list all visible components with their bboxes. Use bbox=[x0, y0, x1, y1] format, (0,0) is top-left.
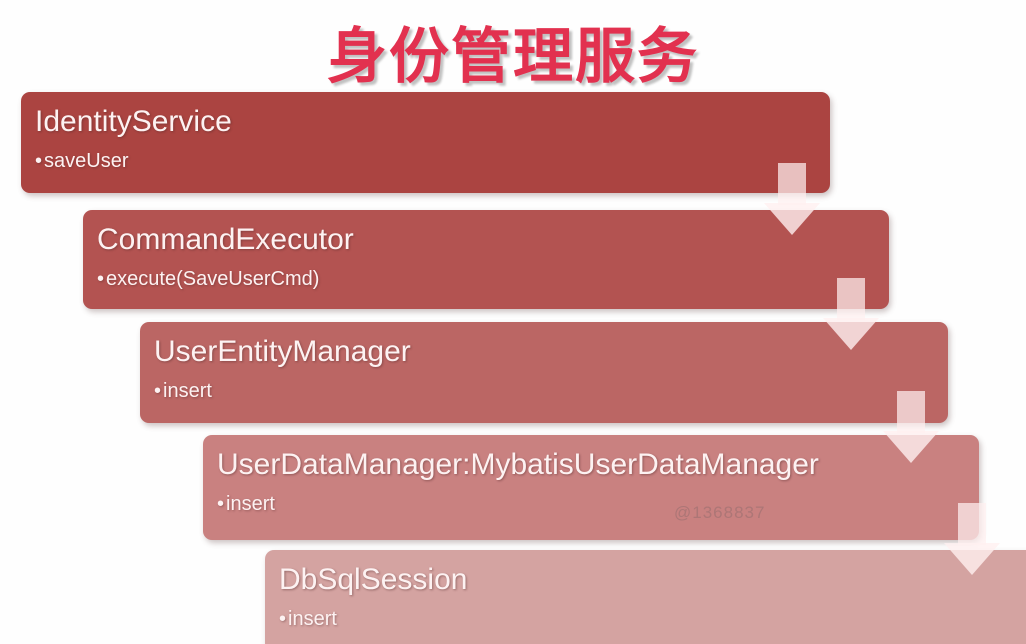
watermark: @1368837 bbox=[674, 503, 765, 523]
flow-stage-title: CommandExecutor bbox=[97, 222, 875, 258]
flow-stage-title: IdentityService bbox=[35, 104, 816, 140]
flow-stage-dbsqlsession[interactable]: DbSqlSession insert bbox=[265, 550, 1026, 644]
flow-stage-bullet: insert bbox=[217, 489, 965, 519]
flow-stage-title: UserEntityManager bbox=[154, 334, 934, 370]
arrow-down-icon bbox=[883, 391, 939, 463]
flow-stage-bullet: saveUser bbox=[35, 146, 816, 176]
flow-stage-identityservice[interactable]: IdentityService saveUser bbox=[21, 92, 830, 193]
arrow-head bbox=[764, 203, 820, 235]
arrow-shaft bbox=[837, 278, 865, 320]
arrow-head bbox=[944, 543, 1000, 575]
flow-stage-bullet: execute(SaveUserCmd) bbox=[97, 264, 875, 294]
arrow-down-icon bbox=[823, 278, 879, 350]
flow-stage-userdatamanager[interactable]: UserDataManager:MybatisUserDataManager i… bbox=[203, 435, 979, 540]
slide-canvas: 身份管理服务 IdentityService saveUser CommandE… bbox=[0, 0, 1026, 644]
arrow-shaft bbox=[778, 163, 806, 205]
flow-stage-bullet: insert bbox=[279, 604, 1026, 634]
arrow-down-icon bbox=[764, 163, 820, 235]
flow-stage-bullet: insert bbox=[154, 376, 934, 406]
arrow-down-icon bbox=[944, 503, 1000, 575]
page-title: 身份管理服务 bbox=[0, 8, 1026, 95]
flow-stage-title: DbSqlSession bbox=[279, 562, 1026, 598]
flow-stage-title: UserDataManager:MybatisUserDataManager bbox=[217, 447, 965, 483]
arrow-shaft bbox=[958, 503, 986, 545]
arrow-head bbox=[823, 318, 879, 350]
arrow-head bbox=[883, 431, 939, 463]
arrow-shaft bbox=[897, 391, 925, 433]
